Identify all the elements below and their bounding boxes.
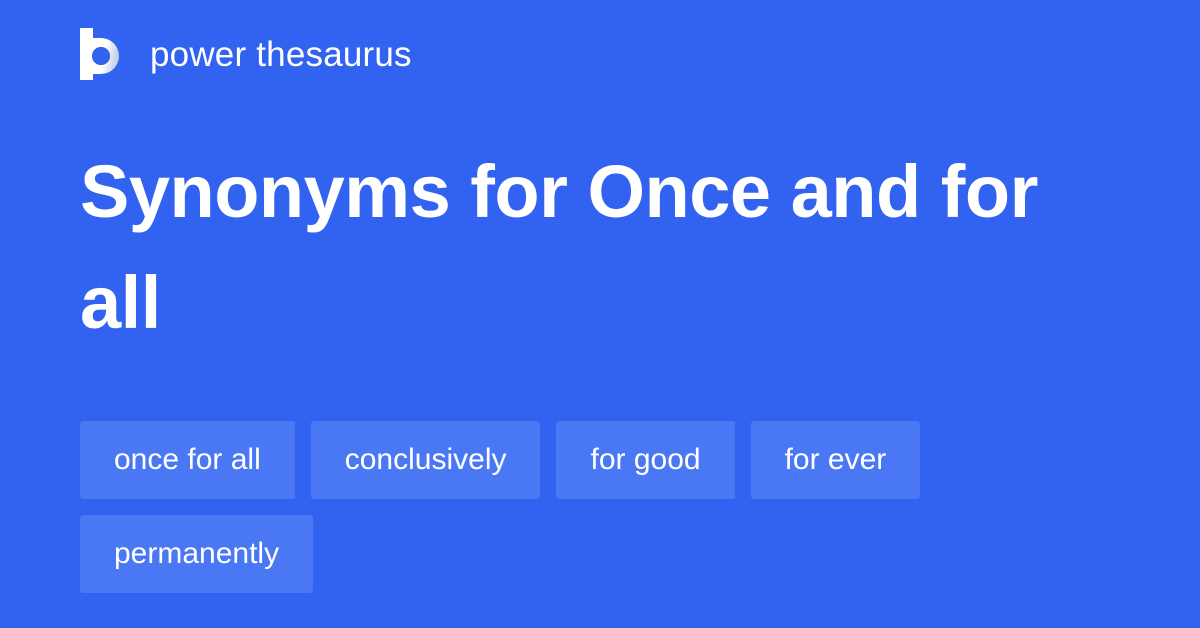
synonym-chip[interactable]: once for all bbox=[80, 421, 295, 499]
synonym-chip[interactable]: for ever bbox=[751, 421, 921, 499]
social-share-card: power thesaurus Synonyms for Once and fo… bbox=[0, 0, 1200, 628]
synonym-chip[interactable]: conclusively bbox=[311, 421, 541, 499]
synonym-chip[interactable]: for good bbox=[556, 421, 734, 499]
brand-name: power thesaurus bbox=[150, 37, 412, 72]
page-title: Synonyms for Once and for all bbox=[80, 136, 1060, 358]
synonym-chip[interactable]: permanently bbox=[80, 515, 313, 593]
power-thesaurus-b-logo-icon bbox=[80, 28, 128, 80]
brand-header[interactable]: power thesaurus bbox=[80, 28, 412, 80]
synonym-chip-list: once for all conclusively for good for e… bbox=[80, 421, 1120, 593]
